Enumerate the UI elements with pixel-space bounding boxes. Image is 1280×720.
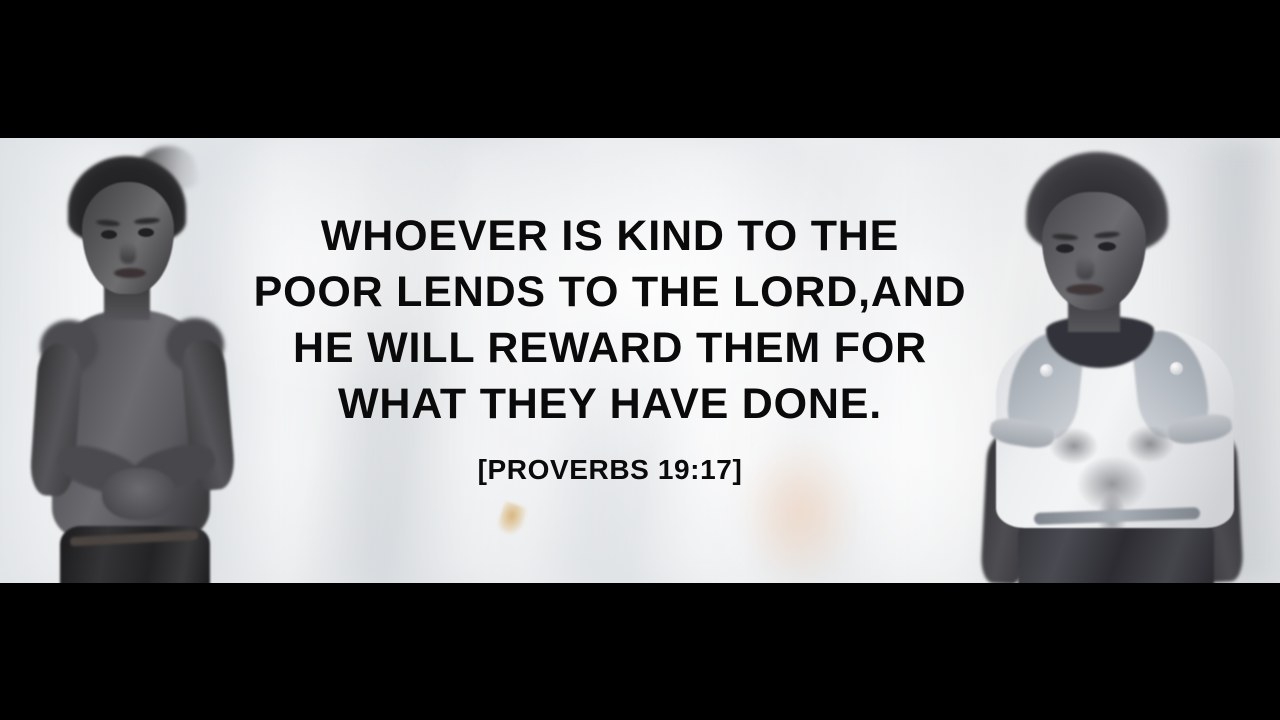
quote-banner: WHOEVER IS KIND TO THE POOR LENDS TO THE…	[0, 0, 1280, 720]
background-warm-glow	[740, 438, 860, 583]
right-child-photo	[984, 138, 1244, 583]
right-child-nose	[1076, 256, 1094, 280]
left-child-eye-right	[138, 228, 154, 237]
right-child-eye-right	[1098, 242, 1116, 251]
right-child-eye-left	[1056, 244, 1074, 253]
left-child-mouth	[114, 268, 146, 278]
letterbox-bar-bottom	[0, 583, 1280, 720]
left-child-hands	[102, 468, 176, 520]
photo-band	[0, 138, 1280, 583]
letterbox-bar-top	[0, 0, 1280, 138]
right-child-mouth	[1066, 284, 1104, 295]
left-child-photo	[18, 138, 253, 583]
left-child-eye-left	[101, 230, 117, 239]
right-child-button-left	[1040, 364, 1053, 377]
left-child-nose	[120, 242, 136, 264]
right-child-button-right	[1170, 362, 1183, 375]
